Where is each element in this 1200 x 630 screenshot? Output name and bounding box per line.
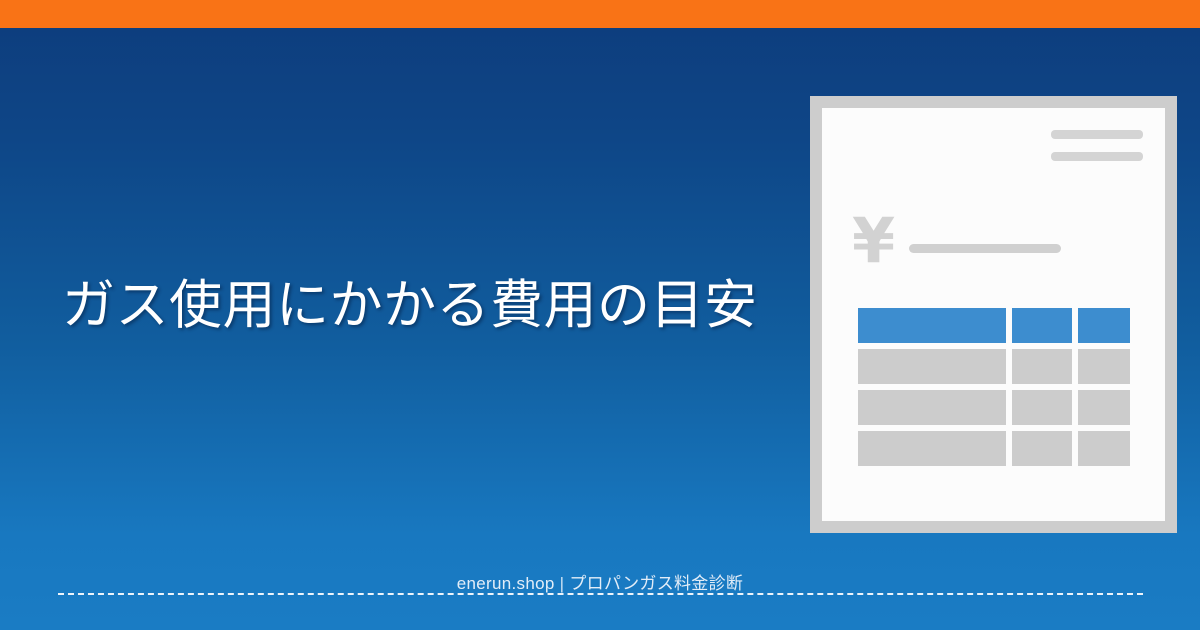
yen-icon: ¥ [852, 213, 898, 271]
table-cell [1012, 349, 1072, 384]
document-page: ¥ [822, 108, 1165, 521]
page-title: ガス使用にかかる費用の目安 [62, 272, 762, 340]
table-cell [1012, 431, 1072, 466]
document-table [858, 308, 1130, 466]
table-header-cell [1078, 308, 1130, 343]
table-cell [1078, 431, 1130, 466]
footer-tagline: プロパンガス料金診断 [569, 574, 743, 593]
table-header-row [858, 308, 1130, 343]
table-row [858, 431, 1130, 466]
table-header-cell [1012, 308, 1072, 343]
table-cell [858, 390, 1006, 425]
og-card: ガス使用にかかる費用の目安 ¥ [0, 0, 1200, 630]
amount-placeholder-line [909, 244, 1061, 253]
document-header-line-2 [1051, 152, 1143, 161]
table-cell [1078, 390, 1130, 425]
footer-separator: | [555, 574, 570, 593]
table-row [858, 390, 1130, 425]
table-header-cell [858, 308, 1006, 343]
top-accent-bar [0, 0, 1200, 28]
table-cell [1012, 390, 1072, 425]
table-cell [1078, 349, 1130, 384]
table-cell [858, 349, 1006, 384]
amount-row: ¥ [852, 213, 1132, 271]
table-cell [858, 431, 1006, 466]
footer: enerun.shop|プロパンガス料金診断 [0, 573, 1200, 595]
document-header-line-1 [1051, 130, 1143, 139]
table-row [858, 349, 1130, 384]
footer-site-name: enerun.shop [457, 574, 555, 593]
gas-bill-document: ¥ [810, 96, 1177, 533]
